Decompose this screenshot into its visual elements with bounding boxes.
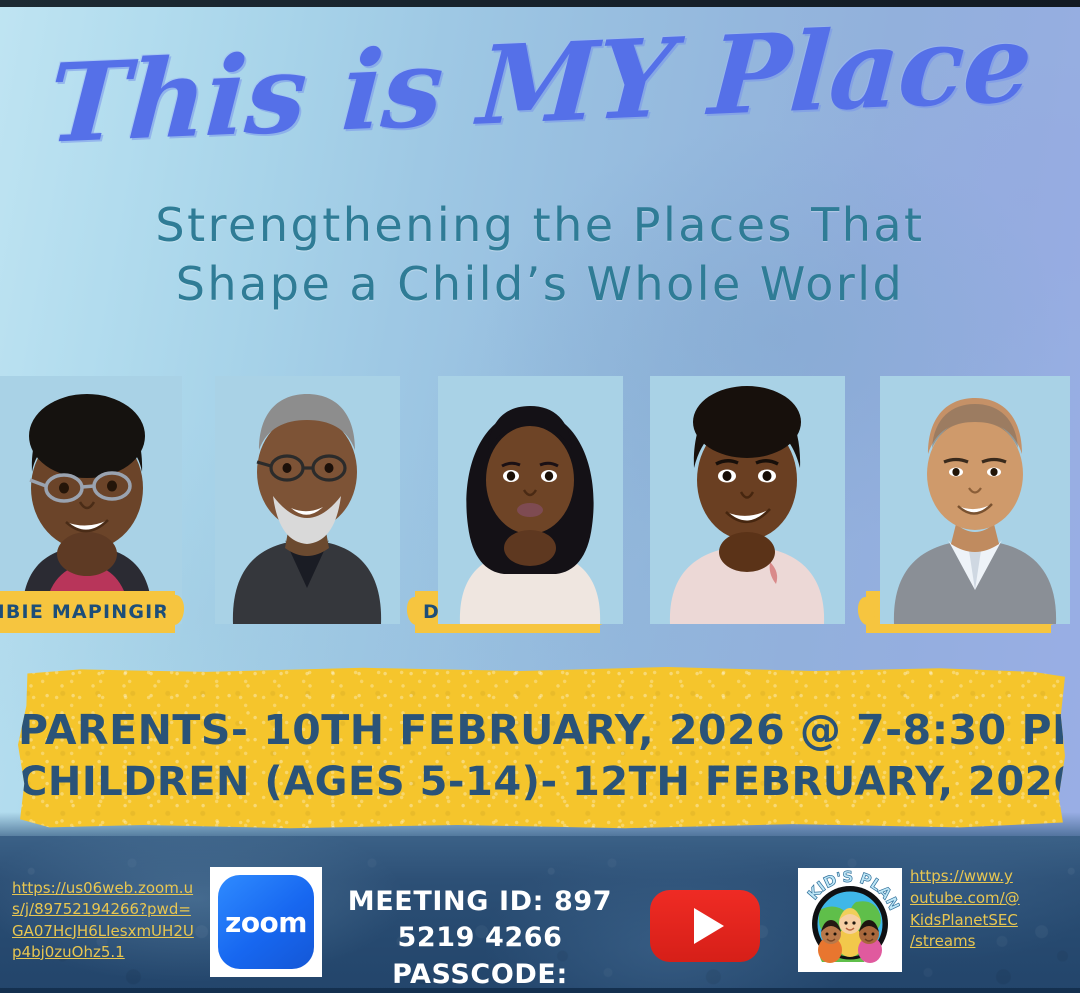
speaker-4-photo bbox=[650, 376, 845, 624]
subtitle: Strengthening the Places That Shape a Ch… bbox=[0, 196, 1080, 314]
title-area: This is MY Place bbox=[0, 26, 1080, 143]
speaker-5: DR. RIO ESPULGAR bbox=[880, 376, 1070, 624]
speaker-3: BK PETERS bbox=[438, 376, 623, 624]
speaker-2-photo bbox=[215, 376, 400, 624]
play-triangle-icon bbox=[694, 908, 724, 944]
event-flyer: This is MY Place Strengthening the Place… bbox=[0, 0, 1080, 993]
speaker-row: EMBIE MAPINGIRE bbox=[0, 362, 1080, 624]
kids-planet-logo: KID'S PLANET bbox=[798, 868, 902, 972]
meeting-credentials: MEETING ID: 897 5219 4266 PASSCODE: 3201… bbox=[330, 884, 630, 993]
bottom-edge-strip bbox=[0, 988, 1080, 993]
session-dates-banner: PARENTS- 10TH FEBRUARY, 2026 @ 7-8:30 PM… bbox=[18, 667, 1065, 829]
speaker-4: HANNAH COMMODORE bbox=[650, 376, 845, 624]
youtube-channel-link[interactable]: https://www.youtube.com/@KidsPlanetSEC/s… bbox=[910, 866, 1020, 953]
zoom-meeting-link[interactable]: https://us06web.zoom.us/j/89752194266?pw… bbox=[12, 878, 202, 963]
subtitle-line-2: Shape a Child’s Whole World bbox=[0, 255, 1080, 314]
speaker-1-name: EMBIE MAPINGIRE bbox=[0, 601, 183, 623]
zoom-icon-card: zoom bbox=[210, 867, 322, 977]
speaker-2: DR. LES ACKIE bbox=[215, 376, 400, 624]
speaker-3-photo bbox=[438, 376, 623, 624]
meeting-id: MEETING ID: 897 5219 4266 bbox=[330, 884, 630, 957]
zoom-wordmark: zoom bbox=[225, 906, 307, 939]
page-title: This is MY Place bbox=[0, 3, 1080, 165]
session-line-parents: PARENTS- 10TH FEBRUARY, 2026 @ 7-8:30 PM bbox=[18, 708, 1065, 754]
speaker-1-photo bbox=[0, 376, 182, 624]
youtube-icon[interactable] bbox=[650, 890, 760, 962]
subtitle-line-1: Strengthening the Places That bbox=[0, 196, 1080, 255]
speaker-1-name-banner: EMBIE MAPINGIRE bbox=[0, 591, 175, 633]
speaker-1: EMBIE MAPINGIRE bbox=[0, 376, 182, 624]
session-line-children: CHILDREN (AGES 5-14)- 12TH FEBRUARY, 202… bbox=[18, 760, 1065, 805]
zoom-icon[interactable]: zoom bbox=[218, 875, 314, 969]
speaker-5-photo bbox=[880, 376, 1070, 624]
